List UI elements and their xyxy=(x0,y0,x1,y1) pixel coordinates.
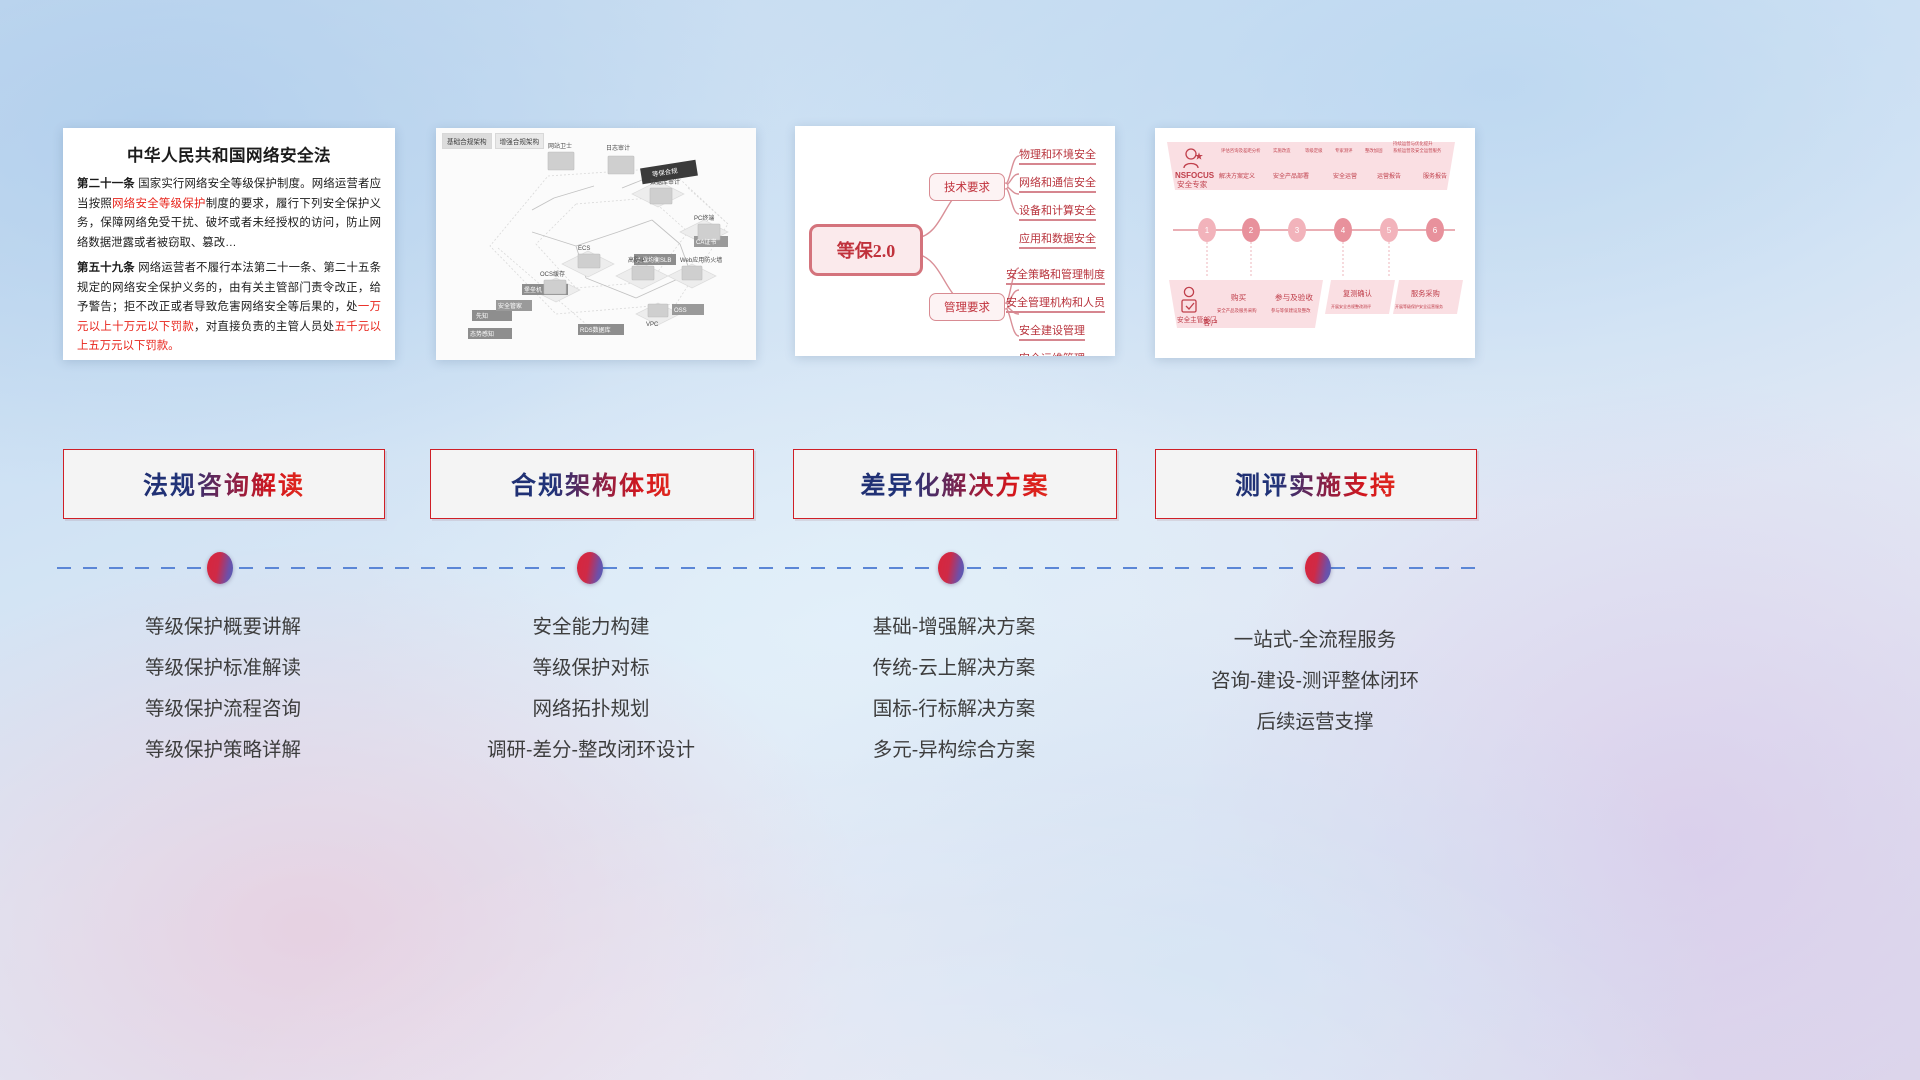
bullet-column-2: 安全能力构建 等级保护对标 网络拓扑规划 调研-差分-整改闭环设计 xyxy=(430,607,752,771)
section-title-box-4[interactable]: 测评实施支持 xyxy=(1155,449,1477,519)
proc-top-label-4: 专家测评 xyxy=(1335,147,1353,154)
list-item: 基础-增强解决方案 xyxy=(793,607,1115,648)
node-label-waf: Web应用防火墙 xyxy=(680,256,722,264)
proc-brand-sub: 安全专家 xyxy=(1177,179,1208,189)
proc-bottom-2: 参与及验收 xyxy=(1275,292,1313,302)
proc-step-2: 2 xyxy=(1249,226,1254,235)
proc-stage-4: 运营报告 xyxy=(1377,172,1401,180)
tab-enhanced-架构[interactable]: 增强合规架构 xyxy=(495,133,545,149)
proc-bottom-sub-1: 安全产品及服务采购 xyxy=(1217,307,1257,314)
mindmap-leaf-tech-2: 网络和通信安全 xyxy=(1019,174,1096,193)
list-item: 后续运营支撑 xyxy=(1155,702,1475,743)
mindmap-leaf-tech-1: 物理和环境安全 xyxy=(1019,146,1096,165)
proc-brand: NSFOCUS xyxy=(1175,171,1215,180)
slide-stage: 中华人民共和国网络安全法 第二十一条 国家实行网络安全等级保护制度。网络运营者应… xyxy=(0,0,1920,1080)
mindmap-branch-mgmt: 管理要求 xyxy=(929,293,1005,321)
list-item: 国标-行标解决方案 xyxy=(793,689,1115,730)
list-item: 等级保护策略详解 xyxy=(63,730,383,771)
list-item: 等级保护对标 xyxy=(430,648,752,689)
law-body: 中华人民共和国网络安全法 第二十一条 国家实行网络安全等级保护制度。网络运营者应… xyxy=(63,128,395,360)
node-label-vpc: VPC xyxy=(646,322,659,328)
mindmap-leaf-tech-4: 应用和数据安全 xyxy=(1019,230,1096,249)
proc-step-5: 5 xyxy=(1387,226,1392,235)
architecture-svg: 态势感知 先知 安全管家 堡垒机 RDS数据库 负载均衡SLB OSS CA证书… xyxy=(436,128,756,360)
proc-top-label-3: 等级定级 xyxy=(1305,147,1323,154)
card-process-timeline: NSFOCUS 安全专家 评估咨询及差距分析 实施改造 等级定级 专家测评 整改… xyxy=(1155,128,1475,358)
mindmap: 等保2.0 技术要求 管理要求 物理和环境安全 网络和通信安全 设备和计算安全 … xyxy=(795,126,1115,356)
list-item: 一站式-全流程服务 xyxy=(1155,620,1475,661)
mindmap-branch-tech: 技术要求 xyxy=(929,173,1005,201)
article-21-highlight: 网络安全等级保护 xyxy=(112,198,206,210)
node-label-rds: RDS数据库 xyxy=(580,326,611,334)
card-law-document: 中华人民共和国网络安全法 第二十一条 国家实行网络安全等级保护制度。网络运营者应… xyxy=(63,128,395,360)
list-item: 安全能力构建 xyxy=(430,607,752,648)
proc-top-label-7: 持续运营与优化提升 xyxy=(1393,140,1433,147)
node-label-安全管家: 安全管家 xyxy=(498,302,522,310)
list-item: 传统-云上解决方案 xyxy=(793,648,1115,689)
bullet-column-3: 基础-增强解决方案 传统-云上解决方案 国标-行标解决方案 多元-异构综合方案 xyxy=(793,607,1115,771)
section-title-3: 差异化解决方案 xyxy=(860,466,1049,502)
node-label-先知: 先知 xyxy=(476,312,488,320)
mindmap-leaf-tech-3: 设备和计算安全 xyxy=(1019,202,1096,221)
proc-customer: 客户 xyxy=(1203,317,1218,327)
mindmap-leaf-mgmt-4: 安全运维管理 xyxy=(1019,350,1085,356)
timeline-dot-2[interactable] xyxy=(577,552,603,584)
proc-stage-5: 服务报告 xyxy=(1423,172,1447,180)
proc-stage-3: 安全运营 xyxy=(1333,172,1357,180)
proc-top-label-1: 评估咨询及差距分析 xyxy=(1221,147,1261,154)
list-item: 等级保护流程咨询 xyxy=(63,689,383,730)
timeline-dot-4[interactable] xyxy=(1305,552,1331,584)
node-label-ocs: OCS缓存 xyxy=(540,270,565,278)
list-item: 多元-异构综合方案 xyxy=(793,730,1115,771)
node-label-堡垒机: 堡垒机 xyxy=(524,286,542,294)
section-title-1: 法规咨询解读 xyxy=(143,466,305,502)
proc-step-4: 4 xyxy=(1341,226,1346,235)
proc-bottom-sub-3: 开展安全合规整改测评 xyxy=(1331,303,1371,309)
section-title-box-3[interactable]: 差异化解决方案 xyxy=(793,449,1117,519)
proc-bottom-1: 购买 xyxy=(1231,292,1247,302)
section-title-2: 合规架构体现 xyxy=(511,466,673,502)
mindmap-leaf-mgmt-2: 安全管理机构和人员 xyxy=(1006,294,1105,313)
proc-bottom-sub-2: 参与等保建设及整改 xyxy=(1271,307,1311,314)
node-label-oss: OSS xyxy=(674,308,687,314)
node-label-ca: CA证书 xyxy=(696,238,716,246)
law-title: 中华人民共和国网络安全法 xyxy=(77,142,381,166)
proc-stage-1: 解决方案定义 xyxy=(1219,172,1255,180)
proc-step-3: 3 xyxy=(1295,226,1300,235)
proc-top-label-2: 实施改造 xyxy=(1273,147,1291,154)
list-item: 调研-差分-整改闭环设计 xyxy=(430,730,752,771)
bullet-column-1: 等级保护概要讲解 等级保护标准解读 等级保护流程咨询 等级保护策略详解 xyxy=(63,607,383,771)
section-title-box-1[interactable]: 法规咨询解读 xyxy=(63,449,385,519)
bullet-column-4: 一站式-全流程服务 咨询-建设-测评整体闭环 后续运营支撑 xyxy=(1155,620,1475,743)
proc-top-label-6: 系统运营及安全运营服务 xyxy=(1393,147,1442,154)
section-title-box-2[interactable]: 合规架构体现 xyxy=(430,449,754,519)
node-label-高防ip: 高防IP xyxy=(628,256,646,264)
mindmap-leaf-mgmt-1: 安全策略和管理制度 xyxy=(1006,266,1105,285)
list-item: 等级保护概要讲解 xyxy=(63,607,383,648)
mindmap-center-node: 等保2.0 xyxy=(809,224,923,276)
article-21-label: 第二十一条 xyxy=(77,178,135,190)
architecture-diagram: 基础合规架构 增强合规架构 xyxy=(436,128,756,360)
article-59-mid: ，对直接负责的主管人员处 xyxy=(194,321,334,333)
timeline-dot-3[interactable] xyxy=(938,552,964,584)
proc-stage-2: 安全产品部署 xyxy=(1273,172,1309,180)
timeline-dashed-line xyxy=(57,567,1482,569)
tab-basic-架构[interactable]: 基础合规架构 xyxy=(442,133,492,149)
proc-step-1: 1 xyxy=(1205,226,1210,235)
node-label-网站卫士: 网站卫士 xyxy=(548,142,572,150)
proc-bottom-sub-4: 开展等级保护安全运营服务 xyxy=(1395,303,1443,309)
law-article-21: 第二十一条 国家实行网络安全等级保护制度。网络运营者应当按照网络安全等级保护制度… xyxy=(77,175,381,253)
section-title-4: 测评实施支持 xyxy=(1235,466,1397,502)
proc-bottom-3: 复测确认 xyxy=(1343,289,1372,298)
list-item: 网络拓扑规划 xyxy=(430,689,752,730)
timeline-dot-1[interactable] xyxy=(207,552,233,584)
list-item: 等级保护标准解读 xyxy=(63,648,383,689)
process-svg: NSFOCUS 安全专家 评估咨询及差距分析 实施改造 等级定级 专家测评 整改… xyxy=(1155,128,1475,358)
card-cloud-architecture: 基础合规架构 增强合规架构 xyxy=(436,128,756,360)
card-mindmap: 等保2.0 技术要求 管理要求 物理和环境安全 网络和通信安全 设备和计算安全 … xyxy=(795,126,1115,356)
law-article-59: 第五十九条 网络运营者不履行本法第二十一条、第二十五条规定的网络安全保护义务的，… xyxy=(77,259,381,357)
process-diagram: NSFOCUS 安全专家 评估咨询及差距分析 实施改造 等级定级 专家测评 整改… xyxy=(1155,128,1475,358)
list-item: 咨询-建设-测评整体闭环 xyxy=(1155,661,1475,702)
architecture-tabs[interactable]: 基础合规架构 增强合规架构 xyxy=(442,133,544,149)
proc-top-label-5: 整改加固 xyxy=(1365,147,1383,154)
proc-step-6: 6 xyxy=(1433,226,1438,235)
node-label-日志审计: 日志审计 xyxy=(606,144,630,152)
mindmap-leaf-mgmt-3: 安全建设管理 xyxy=(1019,322,1085,341)
node-label-ecs: ECS xyxy=(578,246,590,252)
article-59-label: 第五十九条 xyxy=(77,262,135,274)
proc-bottom-4: 服务采购 xyxy=(1411,289,1440,298)
node-label-数据库审计: 数据库审计 xyxy=(650,178,680,186)
node-label-态势感知: 态势感知 xyxy=(470,330,494,338)
node-label-pc终端: PC终端 xyxy=(694,214,714,222)
